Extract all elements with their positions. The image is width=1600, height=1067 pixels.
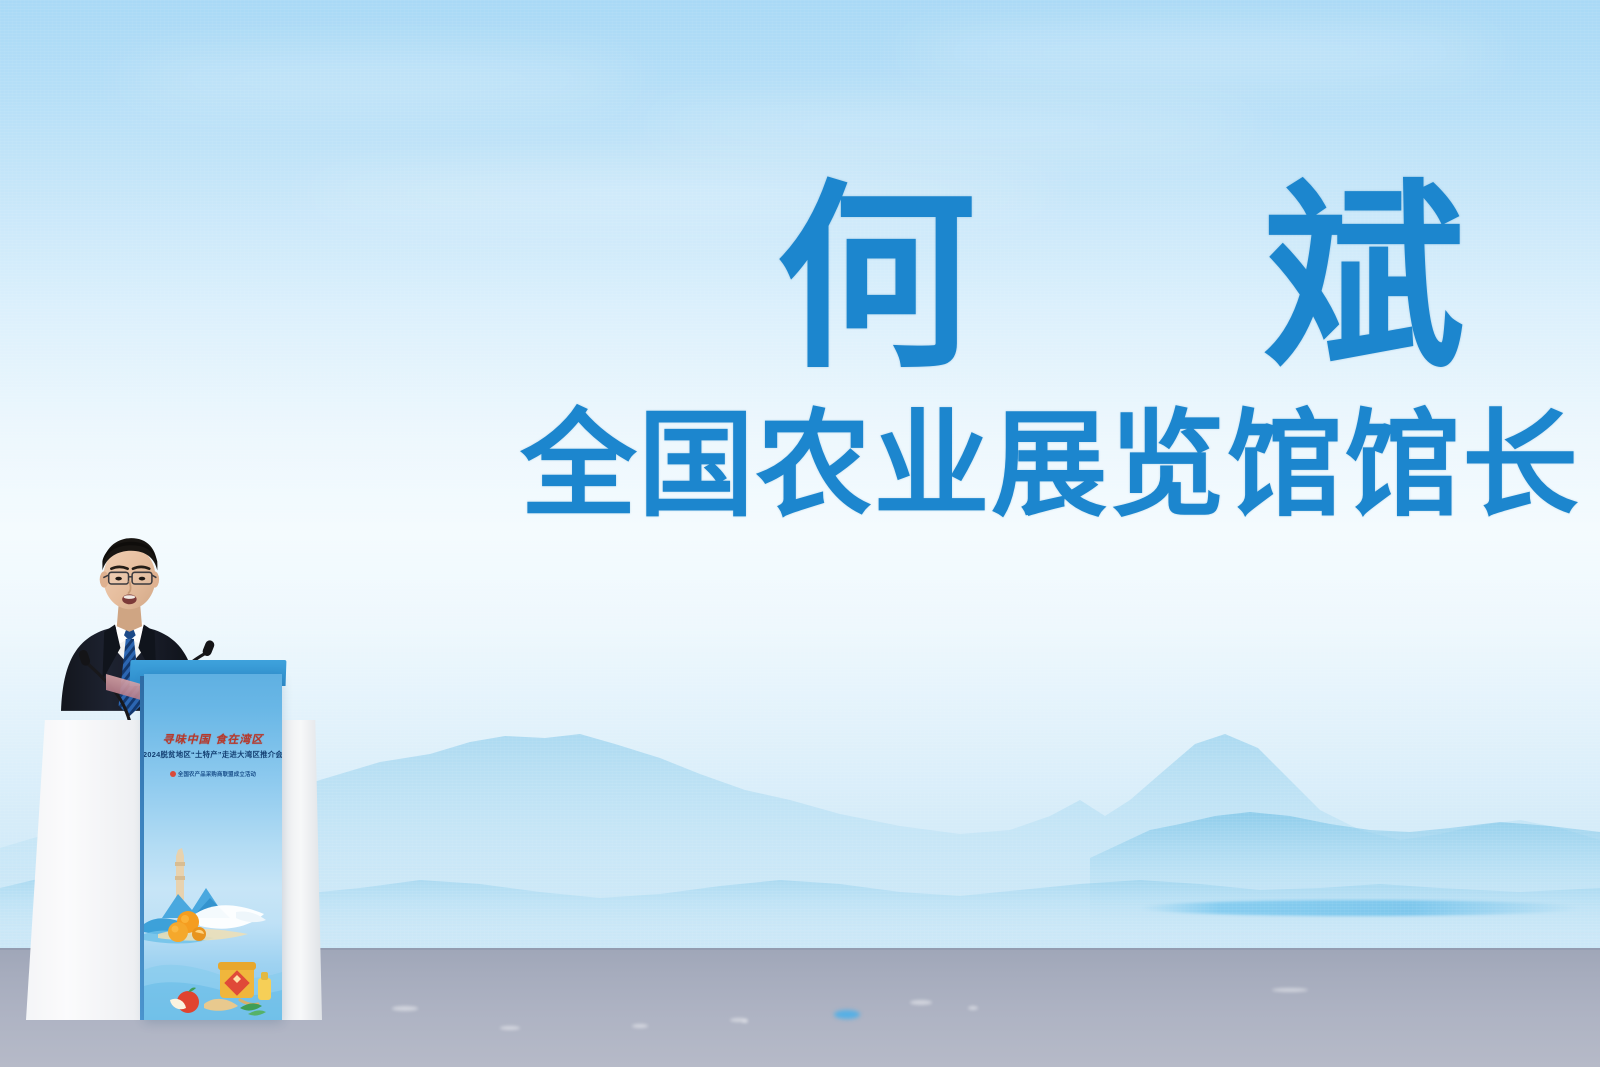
podium-front-panel: 寻味中国 食在湾区 2024脱贫地区“土特产”走进大湾区推介会 全国农产品采购商… (144, 674, 282, 1020)
podium-event-title: 2024脱贫地区“土特产”走进大湾区推介会 (144, 750, 282, 760)
podium-subtitle: 全国农产品采购商联盟成立活动 (178, 772, 256, 778)
podium-produce-artwork (144, 842, 282, 1020)
podium-side-panel-right (280, 720, 322, 1020)
ear-left (100, 571, 109, 587)
podium-calligraphy-line: 寻味中国 食在湾区 (144, 734, 282, 745)
floor-reflection (500, 1026, 520, 1030)
podium-subtitle-row: 全国农产品采购商联盟成立活动 (144, 763, 282, 781)
cloud-wisp (120, 60, 640, 100)
floor-reflection (910, 1000, 932, 1005)
cloud-wisp (640, 110, 1260, 144)
teeth (124, 595, 136, 599)
floor-reflection (632, 1024, 648, 1028)
speaker-name: 何 斌 (470, 175, 1580, 385)
podium: 寻味中国 食在湾区 2024脱贫地区“土特产”走进大湾区推介会 全国农产品采购商… (22, 674, 322, 1026)
cloud-wisp (300, 175, 1060, 213)
floor-reflection (742, 1020, 748, 1023)
cloud-wisp (900, 30, 1500, 76)
podium-header-text: 寻味中国 食在湾区 2024脱贫地区“土特产”走进大湾区推介会 全国农产品采购商… (144, 734, 282, 781)
eye-right (139, 577, 145, 581)
floor-reflection (1272, 988, 1308, 992)
speaker-position-title: 全国农业展览馆馆长 (470, 403, 1580, 528)
floor-reflection-blue (834, 1010, 860, 1019)
podium-side-panel-left (26, 720, 144, 1020)
speaker-title-block: 何 斌 全国农业展览馆馆长 (470, 175, 1580, 528)
stage-scene: 何 斌 全国农业展览馆馆长 (0, 0, 1600, 1067)
water-band-artwork (1140, 900, 1580, 916)
floor-reflection (392, 1006, 418, 1011)
eye-left (115, 577, 121, 581)
floor-reflection (968, 1006, 978, 1010)
red-dot-icon (170, 771, 176, 777)
